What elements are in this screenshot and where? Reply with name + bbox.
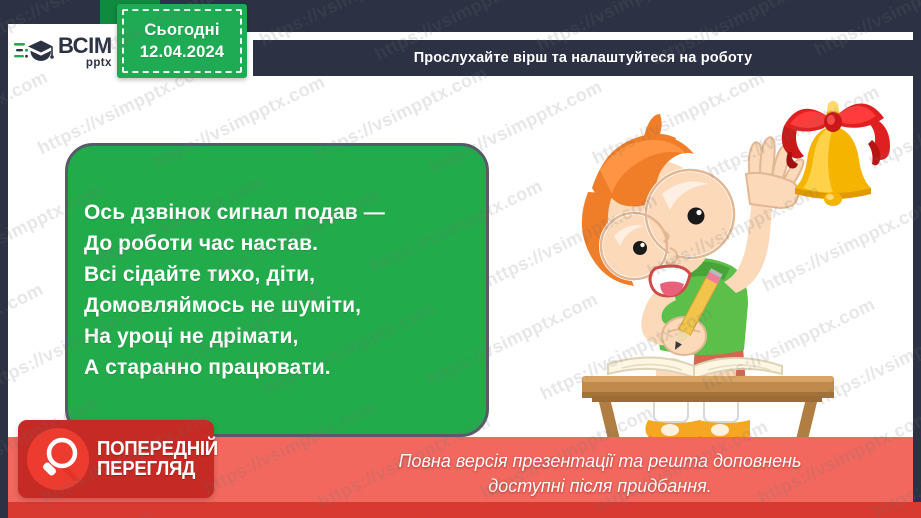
logo-suffix: pptx	[58, 58, 112, 70]
preview-badge-line-2: ПЕРЕГЛЯД	[97, 459, 218, 479]
purchase-notice-line-2: доступні після придбання.	[300, 474, 900, 500]
slide-title: Прослухайте вірш та налаштуйтеся на робо…	[414, 50, 753, 66]
purchase-notice-line-1: Повна версія презентації та решта доповн…	[300, 449, 900, 475]
poem-line: Домовляймось не шуміти,	[84, 290, 486, 321]
date-badge-label: Сьогодні	[144, 21, 219, 40]
poem-line: На уроці не дрімати,	[84, 321, 486, 352]
bottom-edge-strip	[0, 502, 921, 518]
poem-panel: Ось дзвінок сигнал подав — До роботи час…	[65, 143, 489, 437]
poem-line: До роботи час настав.	[84, 228, 486, 259]
date-badge: Сьогодні 12.04.2024	[117, 4, 247, 78]
magnifier-badge-circle	[27, 428, 89, 490]
poem-line: А старанно працювати.	[84, 352, 486, 383]
preview-badge: ПОПЕРЕДНІЙ ПЕРЕГЛЯД	[18, 420, 214, 498]
magnifier-icon	[36, 437, 80, 481]
preview-badge-line-1: ПОПЕРЕДНІЙ	[97, 439, 218, 459]
poem-line: Ось дзвінок сигнал подав —	[84, 197, 486, 228]
school-bell-with-red-bow-icon	[770, 96, 896, 206]
brand-logo[interactable]: ВСІМ pptx	[8, 24, 120, 80]
logo-name: ВСІМ	[58, 35, 112, 57]
poem-line: Всі сідайте тихо, діти,	[84, 259, 486, 290]
illustration-boy-at-desk	[548, 96, 908, 456]
slide-title-bar: Прослухайте вірш та налаштуйтеся на робо…	[253, 40, 913, 76]
slide-canvas: ВСІМ pptx Сьогодні 12.04.2024 Прослухайт…	[0, 0, 921, 518]
graduation-cap-icon	[14, 35, 54, 69]
school-bell	[770, 96, 896, 206]
date-badge-value: 12.04.2024	[140, 43, 225, 62]
purchase-notice-text: Повна версія презентації та решта доповн…	[300, 449, 900, 500]
